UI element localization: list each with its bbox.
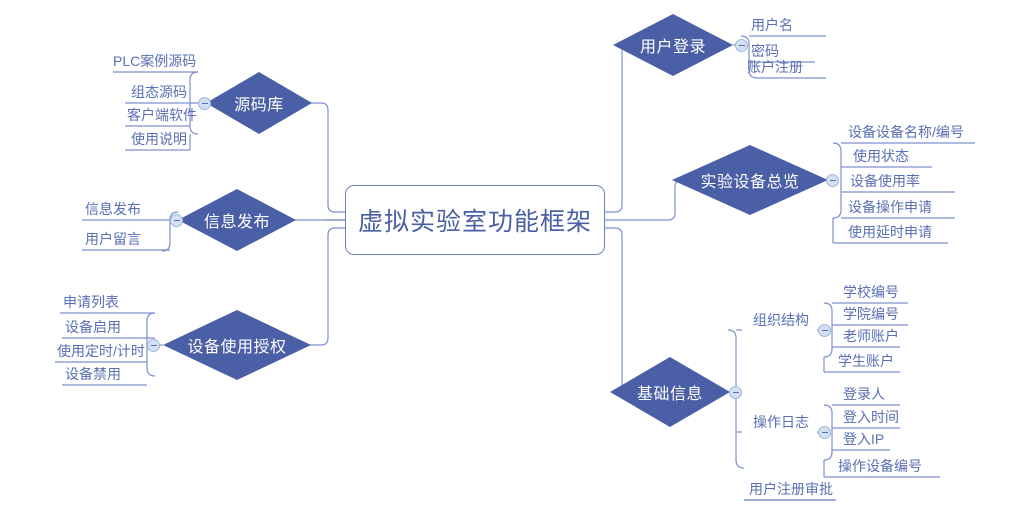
- leaf-plc-case-source[interactable]: PLC案例源码: [108, 52, 200, 72]
- subbranch-organization-structure[interactable]: 组织结构: [748, 311, 822, 331]
- collapse-toggle-info-publish[interactable]: [170, 214, 183, 227]
- mindmap-canvas: 虚拟实验室功能框架 源码库 PLC案例源码 组态源码 客户端软件 使用说明 信息…: [0, 0, 1010, 513]
- leaf-label: 使用状态: [853, 147, 909, 165]
- branch-node-equipment-overview[interactable]: 实验设备总览: [672, 145, 828, 215]
- leaf-label: 设备设备名称/编号: [848, 123, 964, 141]
- subbranch-operation-log[interactable]: 操作日志: [748, 413, 822, 433]
- leaf-label: 设备禁用: [65, 365, 121, 383]
- root-node[interactable]: 虚拟实验室功能框架: [345, 185, 605, 255]
- leaf-label: 设备操作申请: [848, 198, 932, 216]
- leaf-label: 使用定时/计时: [57, 342, 145, 360]
- subbranch-label: 组织结构: [753, 311, 809, 329]
- leaf-application-list[interactable]: 申请列表: [58, 293, 144, 313]
- branch-node-info-publish[interactable]: 信息发布: [178, 189, 296, 251]
- leaf-label: PLC案例源码: [113, 52, 196, 70]
- leaf-label: 客户端软件: [127, 106, 197, 124]
- leaf-config-source[interactable]: 组态源码: [126, 83, 200, 103]
- branch-label: 基础信息: [637, 380, 703, 404]
- leaf-username[interactable]: 用户名: [746, 16, 816, 36]
- leaf-teacher-account[interactable]: 老师账户: [838, 327, 918, 347]
- leaf-usage-timer[interactable]: 使用定时/计时: [52, 342, 156, 362]
- leaf-account-register[interactable]: 账户注册: [742, 58, 822, 78]
- leaf-label: 用户名: [751, 16, 793, 34]
- branch-node-user-login[interactable]: 用户登录: [613, 14, 733, 76]
- leaf-label: 登入IP: [843, 430, 884, 448]
- collapse-toggle-equipment-overview[interactable]: [826, 174, 839, 187]
- root-label: 虚拟实验室功能框架: [358, 202, 592, 238]
- branch-label: 设备使用授权: [187, 333, 286, 357]
- leaf-label: 使用延时申请: [848, 223, 932, 241]
- leaf-device-utilization[interactable]: 设备使用率: [845, 172, 951, 192]
- leaf-login-ip[interactable]: 登入IP: [838, 430, 900, 450]
- leaf-operated-device-code[interactable]: 操作设备编号: [833, 457, 943, 477]
- leaf-label: 申请列表: [63, 293, 119, 311]
- leaf-label: 操作设备编号: [838, 457, 922, 475]
- leaf-label: 登录人: [843, 385, 885, 403]
- branch-node-basic-info[interactable]: 基础信息: [610, 357, 730, 427]
- leaf-usage-manual[interactable]: 使用说明: [126, 130, 196, 150]
- branch-label: 信息发布: [204, 208, 270, 232]
- leaf-label: 登入时间: [843, 408, 899, 426]
- leaf-device-name-code[interactable]: 设备设备名称/编号: [843, 123, 979, 143]
- leaf-college-code[interactable]: 学院编号: [838, 305, 918, 325]
- leaf-label: 设备启用: [65, 318, 121, 336]
- leaf-label: 学院编号: [843, 305, 899, 323]
- leaf-label: 学生账户: [838, 352, 894, 370]
- leaf-label: 学校编号: [843, 283, 899, 301]
- leaf-device-operation-request[interactable]: 设备操作申请: [843, 198, 957, 218]
- branch-label: 用户登录: [640, 33, 706, 57]
- branch-label: 源码库: [234, 91, 284, 115]
- branch-label: 实验设备总览: [700, 168, 799, 192]
- collapse-toggle-organization-structure[interactable]: [818, 324, 831, 337]
- leaf-school-code[interactable]: 学校编号: [838, 283, 918, 303]
- leaf-label: 账户注册: [747, 58, 803, 76]
- collapse-toggle-basic-info[interactable]: [729, 386, 742, 399]
- leaf-label: 使用说明: [131, 130, 187, 148]
- leaf-label: 信息发布: [85, 200, 141, 218]
- subbranch-label: 操作日志: [753, 413, 809, 431]
- leaf-login-time[interactable]: 登入时间: [838, 408, 910, 428]
- leaf-client-software[interactable]: 客户端软件: [122, 106, 196, 126]
- leaf-label: 设备使用率: [850, 172, 920, 190]
- leaf-login-person[interactable]: 登录人: [838, 385, 910, 405]
- leaf-student-account[interactable]: 学生账户: [833, 352, 913, 372]
- leaf-device-enable[interactable]: 设备启用: [60, 318, 146, 338]
- branch-node-device-authorization[interactable]: 设备使用授权: [163, 310, 311, 380]
- collapse-toggle-operation-log[interactable]: [818, 426, 831, 439]
- leaf-usage-extension-request[interactable]: 使用延时申请: [843, 223, 957, 243]
- leaf-user-registration-approval[interactable]: 用户注册审批: [744, 480, 848, 500]
- leaf-user-message[interactable]: 用户留言: [80, 230, 158, 250]
- leaf-info-release[interactable]: 信息发布: [80, 200, 158, 220]
- branch-node-source-library[interactable]: 源码库: [206, 72, 312, 134]
- leaf-label: 用户留言: [85, 230, 141, 248]
- leaf-label: 用户注册审批: [749, 480, 833, 498]
- leaf-device-disable[interactable]: 设备禁用: [60, 365, 146, 385]
- leaf-usage-status[interactable]: 使用状态: [848, 147, 934, 167]
- leaf-label: 老师账户: [843, 327, 899, 345]
- leaf-label: 组态源码: [131, 83, 187, 101]
